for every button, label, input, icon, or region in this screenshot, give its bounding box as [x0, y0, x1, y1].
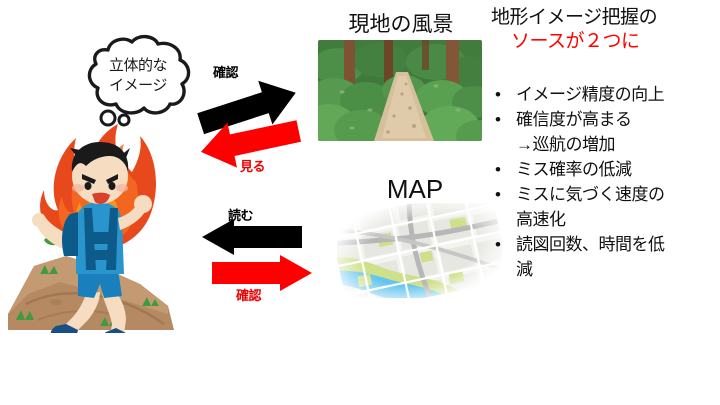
- arrow-look-down-label: 見る: [240, 156, 265, 175]
- bullet-dot: •: [495, 82, 500, 107]
- map-image: [337, 203, 502, 298]
- list-item: • ミス確率の低減: [489, 157, 720, 182]
- bullet-dot: •: [495, 232, 500, 257]
- right-panel-heading: 地形イメージ把握の ソースが２つに: [487, 6, 720, 54]
- scene-photo: [318, 40, 482, 141]
- arrow-group-map: [198, 218, 318, 294]
- bullet-dot: •: [495, 182, 500, 207]
- list-item-sub: 減: [489, 257, 720, 282]
- thought-bubble-cloud: [89, 37, 188, 125]
- heading-line-1: 地形イメージ把握の: [487, 6, 720, 30]
- arrow-confirm-right-label: 確認: [236, 285, 261, 304]
- list-item-label: ミスに気づく速度の: [516, 185, 665, 204]
- slide-canvas: 立体的な イメージ 確認 見る 読む: [0, 0, 720, 405]
- list-item-sub: 高速化: [489, 207, 720, 232]
- arrow-read-left-label: 読む: [228, 205, 253, 224]
- bullet-dot: •: [495, 157, 500, 182]
- list-item-sub: →巡航の増加: [489, 132, 720, 157]
- list-item: • イメージ精度の向上: [489, 82, 720, 107]
- list-item-label: イメージ精度の向上: [516, 85, 664, 104]
- arrow-confirm-up-label: 確認: [213, 62, 238, 81]
- thought-bubble: 立体的な イメージ: [78, 34, 198, 134]
- heading-line-2: ソースが２つに: [487, 30, 720, 54]
- list-item: • ミスに気づく速度の: [489, 182, 720, 207]
- list-item: • 読図回数、時間を低: [489, 232, 720, 257]
- map-title: MAP: [340, 174, 490, 205]
- list-item-label: 確信度が高まる: [516, 110, 632, 129]
- arrow-confirm-right-icon: [212, 255, 312, 291]
- arrow-group-scene: [182, 60, 322, 170]
- benefit-bullet-list: • イメージ精度の向上 • 確信度が高まる →巡航の増加 • ミス確率の低減 •…: [489, 82, 720, 282]
- list-item: • 確信度が高まる: [489, 107, 720, 132]
- scene-title: 現地の風景: [318, 8, 484, 38]
- list-item-label: ミス確率の低減: [516, 160, 632, 179]
- list-item-label: 読図回数、時間を低: [516, 235, 665, 254]
- bullet-dot: •: [495, 107, 500, 132]
- arrow-read-left-icon: [202, 219, 302, 255]
